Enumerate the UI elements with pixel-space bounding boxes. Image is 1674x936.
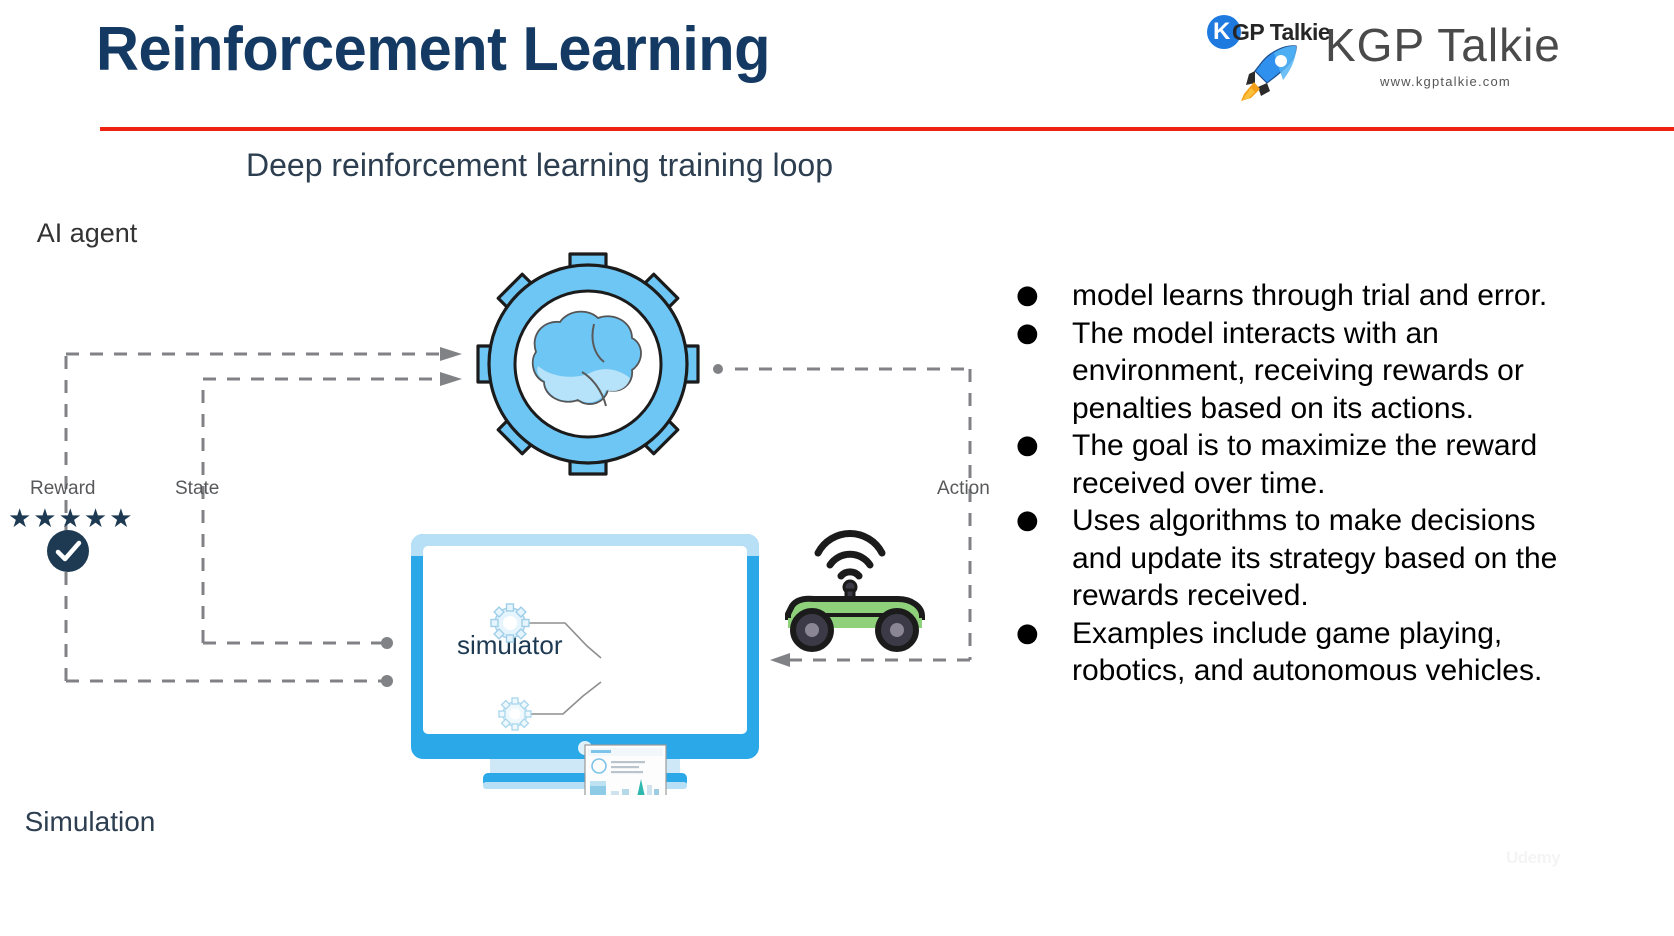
simulator-thumbnail (585, 745, 666, 795)
rl-training-loop-diagram: Deep reinforcement learning training loo… (0, 130, 1000, 936)
list-item: ● Uses algorithms to make decisions and … (1008, 502, 1568, 615)
bullet-text: Examples include game playing, robotics,… (1072, 615, 1568, 690)
bullet-marker: ● (1008, 502, 1072, 615)
logo-letter-k: K (1213, 18, 1230, 46)
brand-url: www.kgptalkie.com (1380, 74, 1511, 89)
bullet-marker: ● (1008, 277, 1072, 315)
bullet-marker: ● (1008, 615, 1072, 690)
reward-check-badge (47, 530, 89, 572)
reward-label: Reward (30, 478, 95, 500)
logo-wordmark: GP Talkie (1232, 19, 1330, 46)
ai-agent-gear-brain-icon (462, 252, 714, 477)
bullet-text: Uses algorithms to make decisions and up… (1072, 502, 1568, 615)
brand-name: KGP Talkie (1325, 18, 1561, 72)
bullet-text: The model interacts with an environment,… (1072, 315, 1568, 428)
car-wheels (780, 600, 940, 660)
bullet-text: model learns through trial and error. (1072, 277, 1568, 315)
gear-small-bottom-icon (492, 691, 537, 736)
list-item: ● The model interacts with an environmen… (1008, 315, 1568, 428)
page-title: Reinforcement Learning (96, 14, 770, 85)
list-item: ● The goal is to maximize the reward rec… (1008, 427, 1568, 502)
brand-logo: K GP Talkie KGP Talkie www.kgptalkie.com (1205, 6, 1674, 106)
bullet-text: The goal is to maximize the reward recei… (1072, 427, 1568, 502)
state-label: State (175, 478, 219, 500)
udemy-watermark: Udemy (1506, 848, 1560, 868)
list-item: ● Examples include game playing, robotic… (1008, 615, 1568, 690)
gear-small-top-icon (483, 596, 537, 650)
kgp-talkie-logo-mark: K GP Talkie (1205, 12, 1325, 102)
list-item: ● model learns through trial and error. (1008, 277, 1568, 315)
simulation-label: Simulation (0, 806, 1000, 838)
action-label: Action (937, 478, 990, 500)
bullet-list: ● model learns through trial and error. … (1008, 277, 1568, 690)
rocket-icon (1241, 43, 1303, 101)
bullet-marker: ● (1008, 427, 1072, 502)
simulator-screen-graphics (405, 530, 765, 795)
bullet-marker: ● (1008, 315, 1072, 428)
